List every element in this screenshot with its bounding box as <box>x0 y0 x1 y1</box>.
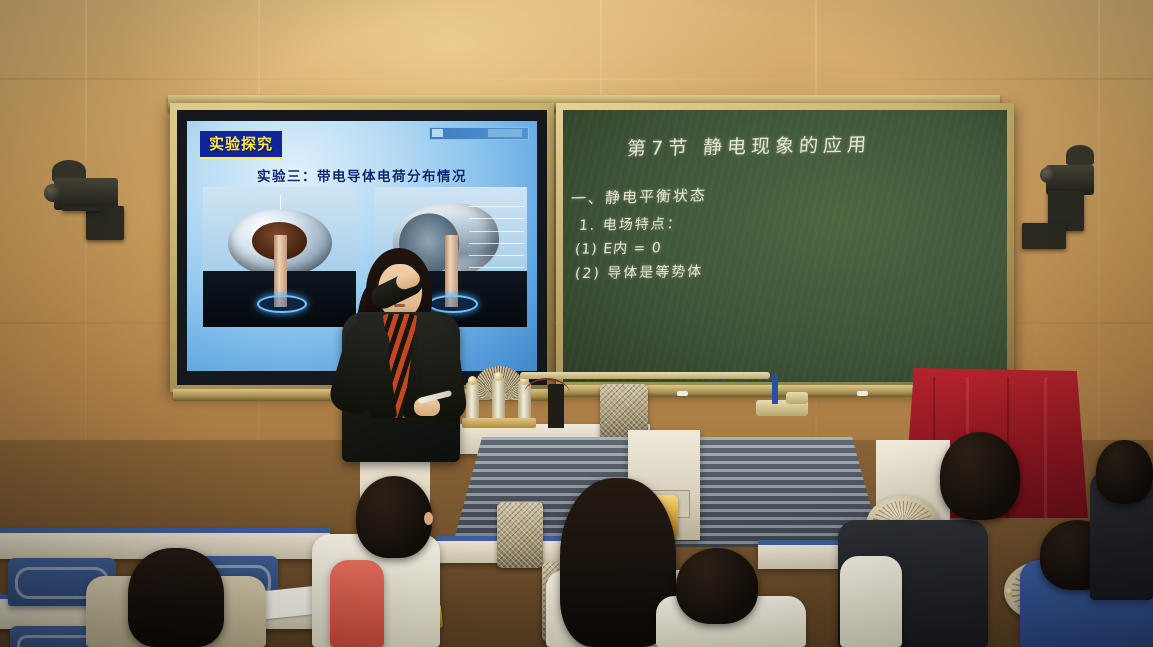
board-line-4: (2) 导体是等势体 <box>574 261 704 283</box>
teacher-mouth <box>394 304 405 307</box>
camera-bracket <box>1022 223 1066 249</box>
student-ear <box>424 512 433 525</box>
electroscope-terminal <box>1006 588 1013 595</box>
student-head <box>356 476 432 558</box>
apparatus-base <box>462 418 536 428</box>
marker-pen <box>772 374 778 404</box>
board-line-1: 一、静电平衡状态 <box>570 184 708 209</box>
slide-banner-label: 实验探究 <box>209 135 273 153</box>
apparatus-terminal <box>494 372 503 381</box>
apparatus-post-center <box>492 378 505 420</box>
support-bar <box>520 372 770 379</box>
chalkboard-surface: 第7节 静电现象的应用 一、静电平衡状态 1. 电场特点： (1) E内 = 0… <box>563 110 1007 382</box>
student-head <box>1096 440 1153 504</box>
student-body-accent <box>330 560 384 647</box>
chalk-piece[interactable] <box>677 391 688 396</box>
wooden-base <box>462 418 536 428</box>
classroom-screenshot: 实验探究 实验三：带电导体电荷分布情况 <box>0 0 1153 647</box>
blackboard: 第7节 静电现象的应用 一、静电平衡状态 1. 电场特点： (1) E内 = 0… <box>556 103 1014 389</box>
board-line-2: 1. 电场特点： <box>578 213 684 235</box>
slide-banner: 实验探究 <box>200 131 282 159</box>
camera-wall-mount <box>86 206 124 240</box>
connecting-wire <box>524 378 570 410</box>
student-head <box>940 432 1020 520</box>
slide-toolbar <box>429 127 529 140</box>
camera-lens-icon <box>44 184 62 202</box>
student-long-hair <box>128 548 224 647</box>
student-head <box>676 548 758 624</box>
board-title: 第7节 静电现象的应用 <box>626 130 872 161</box>
photo-base-ring <box>257 295 307 313</box>
wall-seam <box>0 78 1153 80</box>
slide-subtitle: 实验三：带电导体电荷分布情况 <box>187 165 537 185</box>
wall-camera-right <box>1040 145 1140 260</box>
camera-lens-icon <box>1040 167 1056 183</box>
camera-bracket <box>62 206 102 211</box>
faraday-cage-student-1[interactable] <box>497 502 543 568</box>
chalk-piece[interactable] <box>857 391 868 396</box>
student-body-accent <box>840 556 902 647</box>
camera-hood-icon <box>1066 145 1094 165</box>
board-line-3: (1) E内 = 0 <box>574 237 662 259</box>
wall-camera-left <box>40 160 140 270</box>
wooden-block <box>786 392 808 404</box>
